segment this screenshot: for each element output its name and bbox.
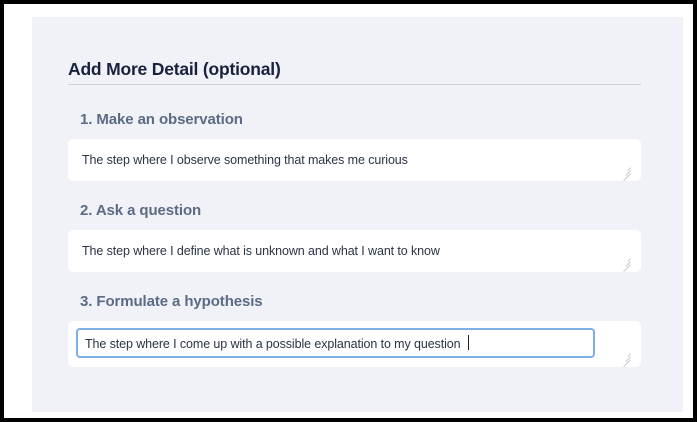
textarea-shell-2[interactable] <box>68 230 641 272</box>
question-textarea[interactable] <box>68 230 641 272</box>
field-label-1: 1. Make an observation <box>80 111 641 128</box>
field-group-question: 2. Ask a question <box>68 202 641 272</box>
hypothesis-textarea[interactable] <box>76 328 595 358</box>
screenshot-frame: Add More Detail (optional) 1. Make an ob… <box>0 0 697 422</box>
text-caret <box>468 335 469 350</box>
title-divider <box>68 84 641 85</box>
textarea-shell-1[interactable] <box>68 139 641 181</box>
resize-grip-icon[interactable] <box>620 350 631 361</box>
field-group-observation: 1. Make an observation <box>68 111 641 181</box>
resize-grip-icon[interactable] <box>620 255 631 266</box>
observation-textarea[interactable] <box>68 139 641 181</box>
textarea-shell-3[interactable] <box>68 321 641 367</box>
field-label-3: 3. Formulate a hypothesis <box>80 293 641 310</box>
field-label-2: 2. Ask a question <box>80 202 641 219</box>
resize-grip-icon[interactable] <box>620 164 631 175</box>
field-group-hypothesis: 3. Formulate a hypothesis <box>68 293 641 367</box>
add-more-detail-panel: Add More Detail (optional) 1. Make an ob… <box>32 17 683 412</box>
page-title: Add More Detail (optional) <box>68 59 281 80</box>
